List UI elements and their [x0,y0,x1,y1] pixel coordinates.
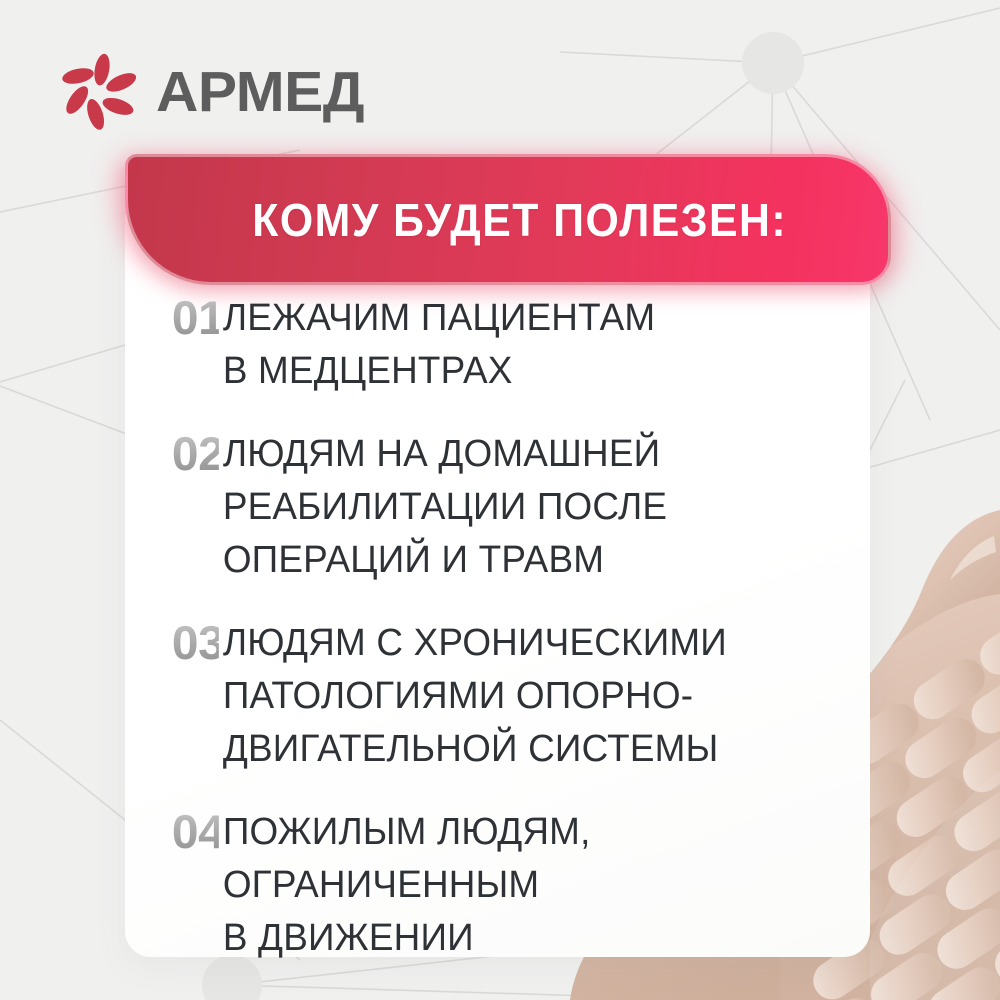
list-item: 02 ЛЮДЯМ НА ДОМАШНЕЙ РЕАБИЛИТАЦИИ ПОСЛЕ … [125,428,870,587]
flower-petal-logo-icon [62,52,142,132]
list-item-text: ПОЖИЛЫМ ЛЮДЯМ, ОГРАНИЧЕННЫМ В ДВИЖЕНИИ [217,806,850,965]
poster-canvas: АРМЕД КОМУ БУДЕТ ПОЛЕЗЕН: 01 ЛЕЖАЧИМ ПАЦ… [0,0,1000,1000]
brand-logo[interactable]: АРМЕД [62,52,358,132]
list-item-text: ЛЮДЯМ НА ДОМАШНЕЙ РЕАБИЛИТАЦИИ ПОСЛЕ ОПЕ… [217,428,850,587]
list-item-number: 01 [125,292,219,344]
list-item-number: 02 [125,428,219,480]
list-item: 03 ЛЮДЯМ С ХРОНИЧЕСКИМИ ПАТОЛОГИЯМИ ОПОР… [125,617,870,776]
list-item-text: ЛЕЖАЧИМ ПАЦИЕНТАМ В МЕДЦЕНТРАХ [217,292,850,398]
banner: КОМУ БУДЕТ ПОЛЕЗЕН: [108,148,908,296]
list-item: 01 ЛЕЖАЧИМ ПАЦИЕНТАМ В МЕДЦЕНТРАХ [125,292,870,398]
banner-title: КОМУ БУДЕТ ПОЛЕЗЕН: [228,193,787,247]
list-item-number: 04 [125,806,219,858]
list-item: 04 ПОЖИЛЫМ ЛЮДЯМ, ОГРАНИЧЕННЫМ В ДВИЖЕНИ… [125,806,870,965]
list-item-number: 03 [125,617,219,669]
list-item-text: ЛЮДЯМ С ХРОНИЧЕСКИМИ ПАТОЛОГИЯМИ ОПОРНО-… [217,617,850,776]
benefits-list: 01 ЛЕЖАЧИМ ПАЦИЕНТАМ В МЕДЦЕНТРАХ 02 ЛЮД… [125,292,870,965]
banner-shape: КОМУ БУДЕТ ПОЛЕЗЕН: [125,154,891,285]
brand-name: АРМЕД [156,64,364,121]
